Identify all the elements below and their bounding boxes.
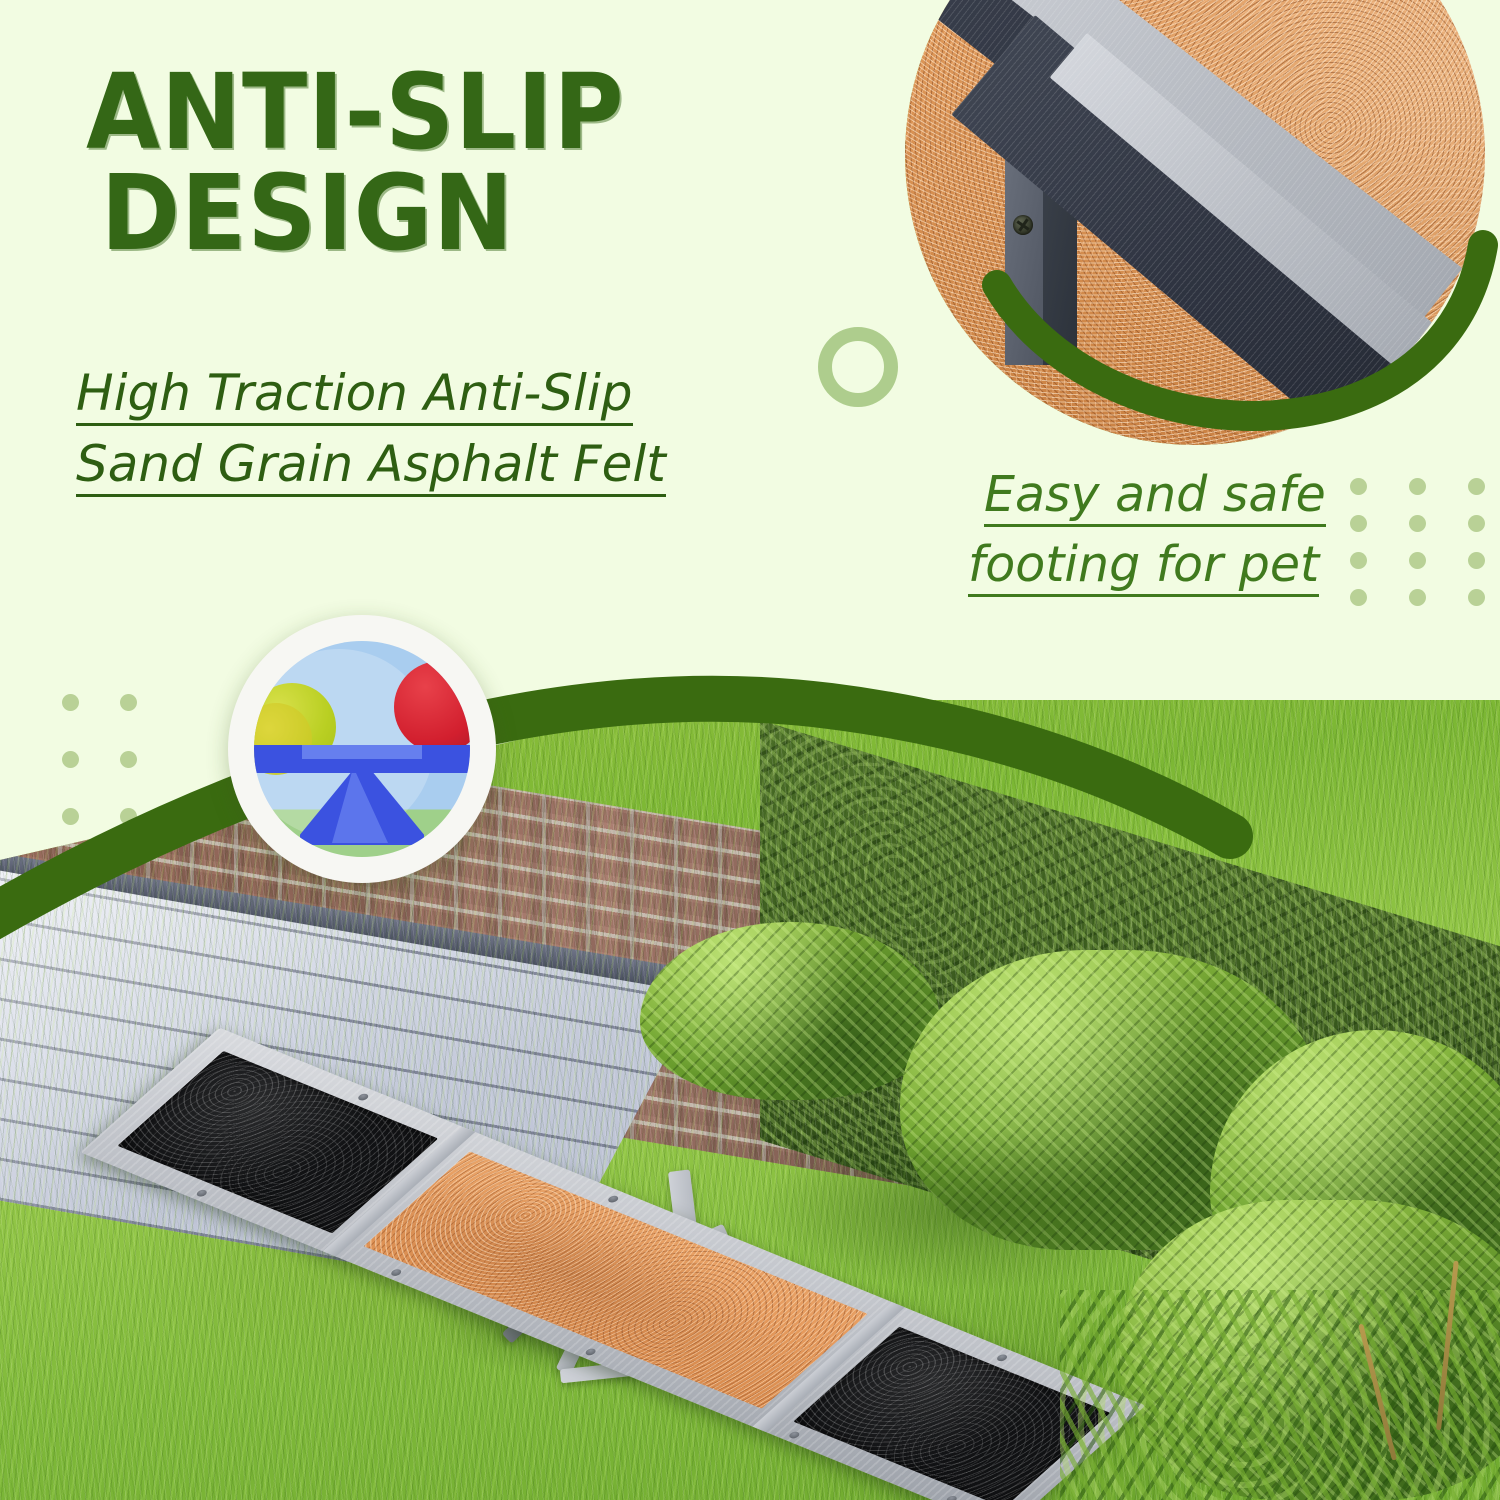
dot xyxy=(1409,589,1426,606)
dot xyxy=(1468,589,1485,606)
dot xyxy=(1409,552,1426,569)
caption-line-2: footing for pet xyxy=(968,540,1319,597)
product-feature-graphic: Anti-Slip Design High Traction Anti-Slip… xyxy=(0,0,1500,1500)
page-title: Anti-Slip Design xyxy=(86,62,675,264)
dot xyxy=(1468,478,1485,495)
dot xyxy=(1409,478,1426,495)
caption-line-1: Easy and safe xyxy=(984,470,1326,527)
headline-line-2: Design xyxy=(86,163,675,264)
feature-caption: Easy and safe footing for pet xyxy=(968,470,1326,610)
dot xyxy=(1350,478,1367,495)
dot xyxy=(1350,552,1367,569)
pet-seesaw-product xyxy=(120,920,1180,1390)
dot xyxy=(1468,552,1485,569)
seesaw-balance-badge xyxy=(228,615,496,883)
green-arch-swoosh xyxy=(0,640,1500,940)
dot xyxy=(1409,515,1426,532)
sand-grain-felt-closeup-inset xyxy=(905,0,1485,445)
balance-bar-highlight xyxy=(302,745,422,759)
subheading: High Traction Anti-Slip Sand Grain Aspha… xyxy=(76,368,776,510)
subheading-line-1: High Traction Anti-Slip xyxy=(76,368,633,426)
inset-arc-border xyxy=(905,0,1485,445)
dot-grid-decoration-right xyxy=(1350,478,1485,606)
dot xyxy=(1468,515,1485,532)
headline-line-1: Anti-Slip xyxy=(86,62,675,163)
sage-ring-icon xyxy=(818,327,898,407)
dot xyxy=(1350,515,1367,532)
subheading-line-2: Sand Grain Asphalt Felt xyxy=(76,439,666,497)
foreground-plants xyxy=(1060,1290,1500,1500)
badge-disc xyxy=(254,641,470,857)
dot xyxy=(1350,589,1367,606)
